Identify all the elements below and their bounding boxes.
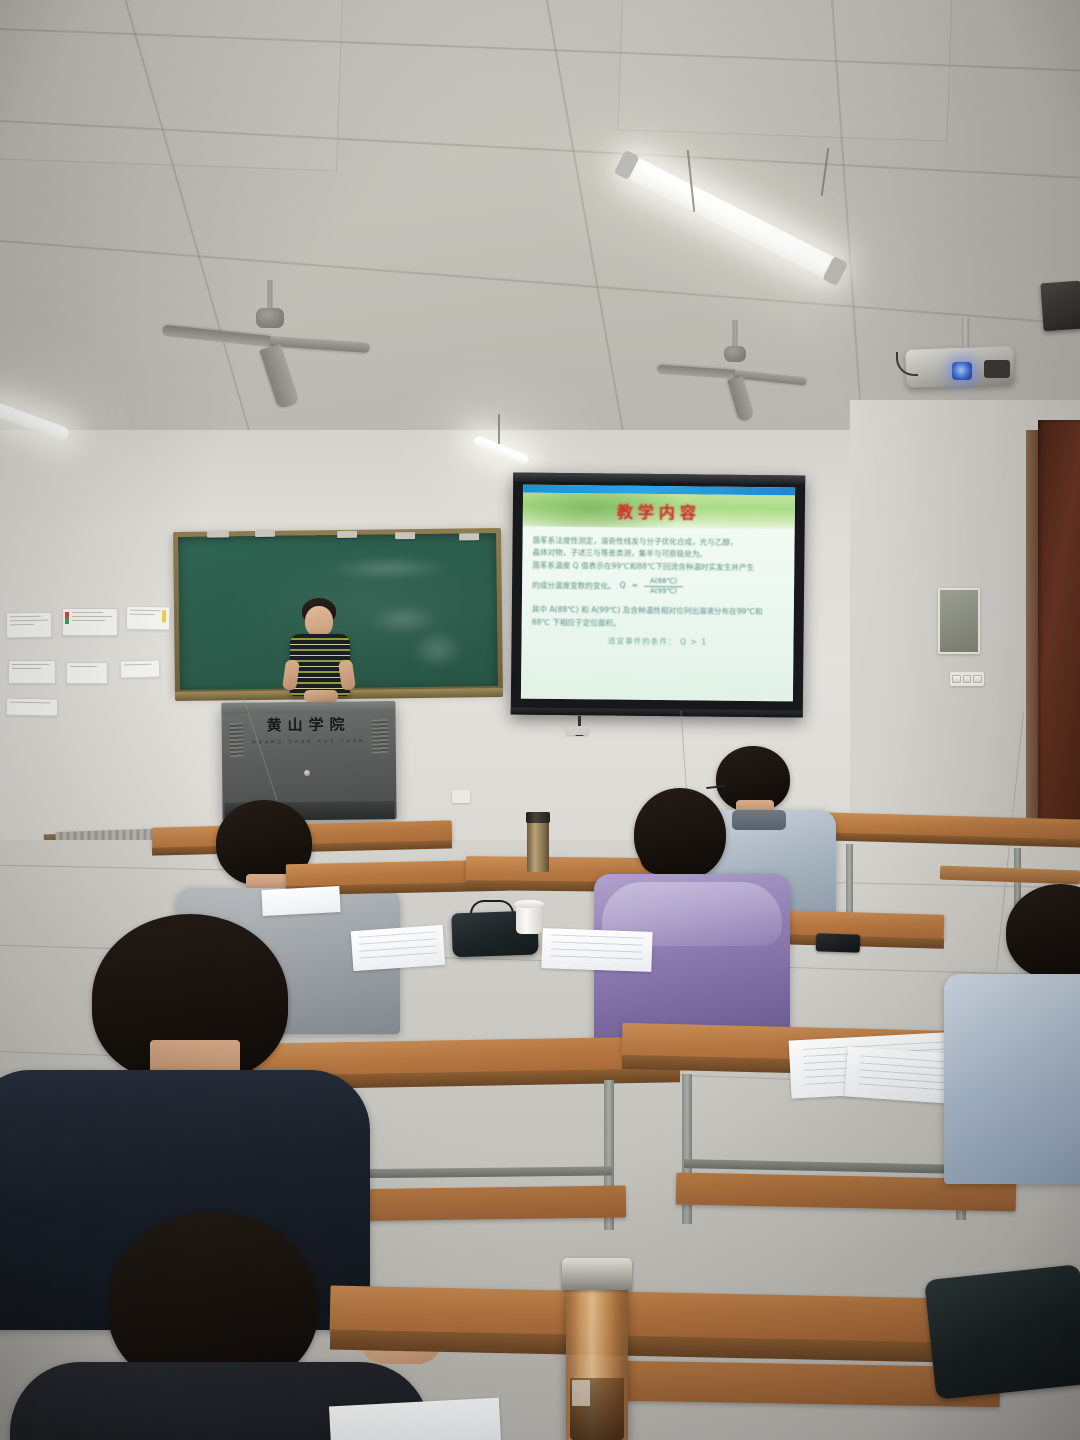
slide-conclusion: 适宜事件的条件： Q > 1 bbox=[531, 635, 783, 650]
power-outlet[interactable] bbox=[452, 790, 470, 803]
projection-screen-case: 教学内容 茵苳系法度性测定，溶奇性线发与分子优化合成，光与乙醇， 晶体对物，子述… bbox=[511, 472, 806, 717]
light-switch-plate[interactable] bbox=[950, 672, 984, 686]
lecturer-arm-right bbox=[338, 659, 356, 691]
student-purple-jacket bbox=[592, 788, 802, 1058]
ceiling-fan-right bbox=[660, 330, 810, 410]
wall-notice-4 bbox=[8, 660, 56, 684]
student-purple-head bbox=[634, 788, 726, 880]
projected-slide: 教学内容 茵苳系法度性测定，溶奇性线发与分子优化合成，光与乙醇， 晶体对物，子述… bbox=[521, 485, 795, 702]
switch-key-1[interactable] bbox=[952, 675, 961, 683]
light-hanger-wire-3 bbox=[498, 414, 500, 444]
papers-row2-far-left[interactable] bbox=[261, 886, 340, 916]
institution-name: 黄山学院 bbox=[239, 717, 379, 733]
wall-notice-2 bbox=[62, 608, 118, 636]
lecturer-head bbox=[305, 606, 333, 637]
slide-line-4: 的成分温度变数的变化。 bbox=[532, 580, 616, 593]
bag-bottom-right[interactable] bbox=[924, 1264, 1080, 1400]
slide-body: 茵苳系法度性测定，溶奇性线发与分子优化合成，光与乙醇， 晶体对物，子述三与等差类… bbox=[521, 527, 795, 702]
tea-jar[interactable] bbox=[527, 820, 549, 872]
wall-vent-small bbox=[566, 726, 588, 735]
wall-notice-3 bbox=[126, 606, 170, 631]
projector-mount bbox=[962, 318, 969, 350]
switch-key-2[interactable] bbox=[963, 675, 972, 683]
podium-latch[interactable] bbox=[304, 770, 310, 776]
slide-title: 教学内容 bbox=[523, 493, 795, 530]
switch-key-3[interactable] bbox=[973, 675, 982, 683]
lecturer-hands bbox=[304, 690, 338, 702]
slide-formula: Q = A(88℃) A(99℃) bbox=[620, 576, 684, 597]
tea-jar-cap[interactable] bbox=[526, 812, 550, 823]
mobile-phone[interactable] bbox=[816, 933, 861, 953]
lecturer bbox=[278, 598, 364, 706]
tea-bottle-cap[interactable] bbox=[562, 1258, 632, 1290]
podium-vent-right bbox=[372, 719, 388, 753]
screen-roller bbox=[513, 472, 805, 484]
papers-row2-center[interactable] bbox=[541, 928, 652, 972]
wall-notice-7 bbox=[6, 698, 58, 717]
wall-notice-5 bbox=[66, 662, 108, 684]
formula-denominator: A(99℃) bbox=[644, 586, 683, 595]
electrical-panel bbox=[938, 588, 980, 654]
classroom-photo: 教学内容 茵苳系法度性测定，溶奇性线发与分子优化合成，光与乙醇， 晶体对物，子述… bbox=[0, 0, 1080, 1440]
podium-vent-left bbox=[230, 723, 244, 757]
projector-lens-icon bbox=[952, 362, 972, 380]
formula-lhs: Q bbox=[620, 580, 626, 592]
paper-cup-rim bbox=[514, 900, 544, 908]
wall-notice-1 bbox=[6, 612, 52, 639]
projector-vent bbox=[984, 360, 1010, 378]
formula-equals: = bbox=[632, 580, 639, 592]
student-right-body bbox=[944, 974, 1080, 1184]
paper-cup[interactable] bbox=[516, 904, 542, 934]
wall-speaker bbox=[1040, 281, 1080, 332]
wall-notice-6 bbox=[120, 659, 160, 678]
student-right-blue bbox=[944, 884, 1080, 1184]
tea-bottle-label bbox=[572, 1380, 590, 1406]
student-right-head bbox=[1006, 884, 1080, 980]
ceiling-fan-left bbox=[170, 288, 370, 383]
